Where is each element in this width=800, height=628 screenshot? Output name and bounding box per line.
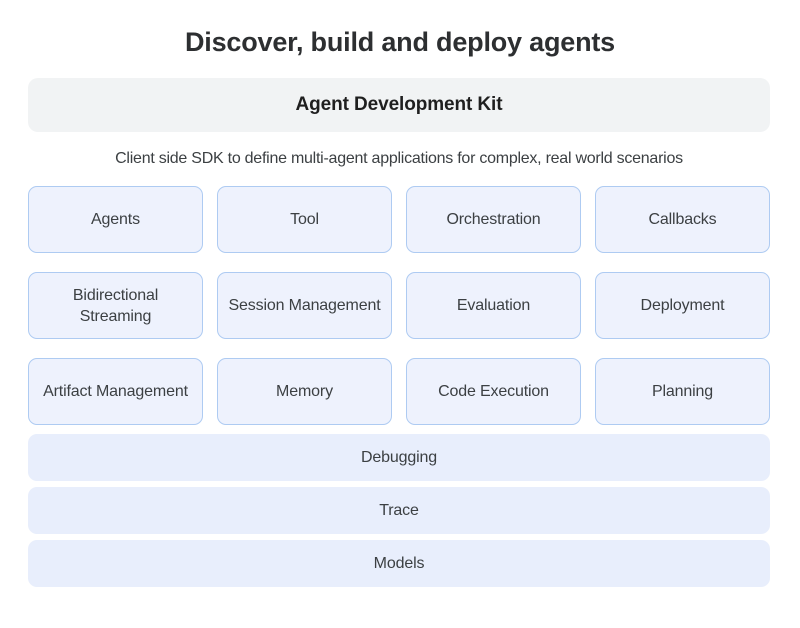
- content-container: Agent Development Kit Client side SDK to…: [28, 78, 770, 587]
- feature-card-planning[interactable]: Planning: [595, 358, 770, 425]
- feature-card-label: Tool: [290, 209, 319, 230]
- feature-card-label: Code Execution: [438, 381, 549, 402]
- feature-card-label: Artifact Management: [43, 381, 188, 402]
- feature-card-artifact-management[interactable]: Artifact Management: [28, 358, 203, 425]
- feature-card-label: Agents: [91, 209, 140, 230]
- feature-card-label: Evaluation: [457, 295, 530, 316]
- wide-bar-label: Debugging: [361, 449, 437, 467]
- wide-bar-stack: Debugging Trace Models: [28, 434, 770, 587]
- feature-card-tool[interactable]: Tool: [217, 186, 392, 253]
- feature-card-orchestration[interactable]: Orchestration: [406, 186, 581, 253]
- wide-bar-label: Trace: [379, 502, 419, 520]
- feature-card-code-execution[interactable]: Code Execution: [406, 358, 581, 425]
- agent-development-kit-banner: Agent Development Kit: [28, 78, 770, 132]
- subtitle-text: Client side SDK to define multi-agent ap…: [115, 150, 683, 168]
- feature-card-agents[interactable]: Agents: [28, 186, 203, 253]
- wide-bar-models[interactable]: Models: [28, 540, 770, 587]
- feature-card-deployment[interactable]: Deployment: [595, 272, 770, 339]
- feature-card-bidirectional-streaming[interactable]: Bidirectional Streaming: [28, 272, 203, 339]
- feature-card-memory[interactable]: Memory: [217, 358, 392, 425]
- feature-card-label: Session Management: [228, 295, 380, 316]
- feature-card-label: Deployment: [641, 295, 725, 316]
- feature-card-label: Memory: [276, 381, 333, 402]
- feature-card-callbacks[interactable]: Callbacks: [595, 186, 770, 253]
- feature-card-evaluation[interactable]: Evaluation: [406, 272, 581, 339]
- wide-bar-trace[interactable]: Trace: [28, 487, 770, 534]
- feature-card-label: Planning: [652, 381, 713, 402]
- wide-bar-debugging[interactable]: Debugging: [28, 434, 770, 481]
- feature-card-label: Orchestration: [446, 209, 540, 230]
- banner-label: Agent Development Kit: [296, 94, 503, 116]
- feature-card-session-management[interactable]: Session Management: [217, 272, 392, 339]
- wide-bar-label: Models: [374, 555, 425, 573]
- page-title: Discover, build and deploy agents: [0, 0, 800, 62]
- feature-card-label: Bidirectional Streaming: [35, 285, 196, 327]
- subtitle: Client side SDK to define multi-agent ap…: [28, 146, 770, 172]
- feature-card-label: Callbacks: [648, 209, 716, 230]
- feature-card-grid: Agents Tool Orchestration Callbacks Bidi…: [28, 186, 770, 425]
- adk-overview-page: Discover, build and deploy agents Agent …: [0, 0, 800, 628]
